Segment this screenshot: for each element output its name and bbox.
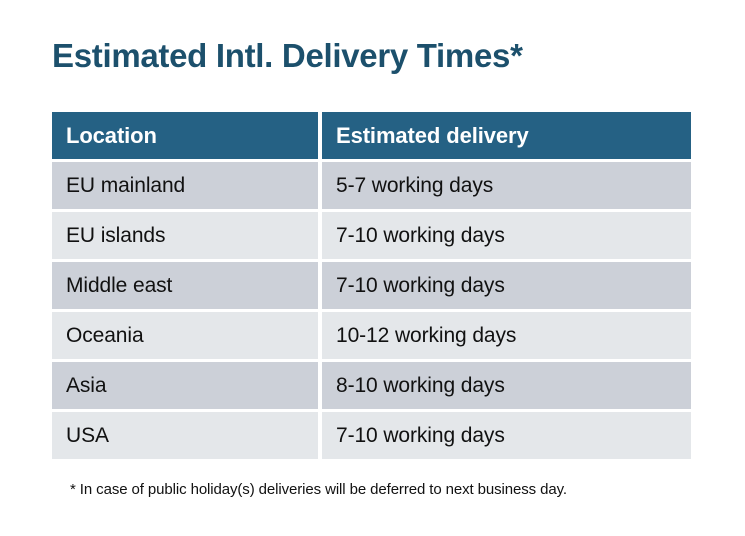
- cell-estimated-delivery: 7-10 working days: [322, 262, 691, 309]
- table-row: EU mainland 5-7 working days: [52, 162, 691, 209]
- column-header-estimated-delivery: Estimated delivery: [322, 112, 691, 159]
- cell-estimated-delivery: 10-12 working days: [322, 312, 691, 359]
- cell-estimated-delivery: 7-10 working days: [322, 212, 691, 259]
- cell-location: EU islands: [52, 212, 318, 259]
- cell-location: EU mainland: [52, 162, 318, 209]
- cell-location: Oceania: [52, 312, 318, 359]
- cell-estimated-delivery: 7-10 working days: [322, 412, 691, 459]
- table-header-row: Location Estimated delivery: [52, 112, 691, 159]
- table-row: Asia 8-10 working days: [52, 362, 691, 409]
- delivery-times-table: Location Estimated delivery EU mainland …: [52, 112, 691, 462]
- cell-estimated-delivery: 8-10 working days: [322, 362, 691, 409]
- table-row: EU islands 7-10 working days: [52, 212, 691, 259]
- column-header-location: Location: [52, 112, 318, 159]
- cell-location: Asia: [52, 362, 318, 409]
- delivery-times-page: Estimated Intl. Delivery Times* Location…: [0, 0, 745, 536]
- table-row: Oceania 10-12 working days: [52, 312, 691, 359]
- table-row: USA 7-10 working days: [52, 412, 691, 459]
- footnote-text: * In case of public holiday(s) deliverie…: [70, 481, 567, 498]
- cell-estimated-delivery: 5-7 working days: [322, 162, 691, 209]
- cell-location: USA: [52, 412, 318, 459]
- table-row: Middle east 7-10 working days: [52, 262, 691, 309]
- cell-location: Middle east: [52, 262, 318, 309]
- page-title: Estimated Intl. Delivery Times*: [52, 36, 523, 76]
